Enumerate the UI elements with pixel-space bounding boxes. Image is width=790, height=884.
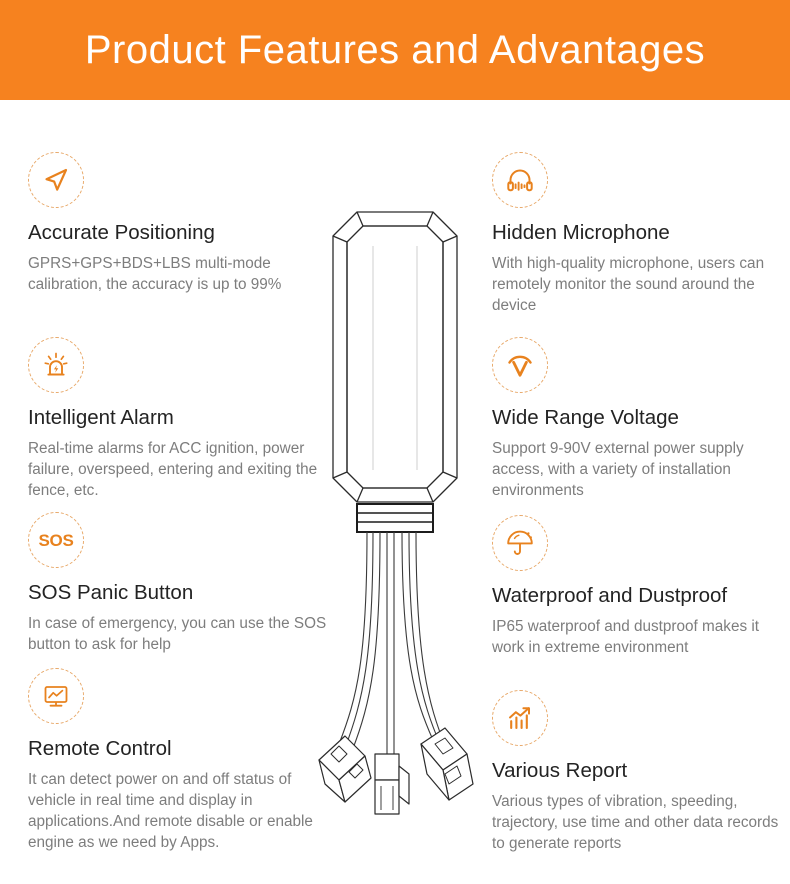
page-title: Product Features and Advantages — [85, 30, 705, 70]
sos-icon: SOS — [28, 512, 84, 568]
feature-various-report: Various Report Various types of vibratio… — [492, 690, 790, 854]
feature-wide-range-voltage: Wide Range Voltage Support 9-90V externa… — [492, 337, 790, 501]
feature-description: Various types of vibration, speeding, tr… — [492, 791, 784, 854]
feature-title: SOS Panic Button — [28, 581, 328, 606]
feature-waterproof-dustproof: Waterproof and Dustproof IP65 waterproof… — [492, 515, 790, 658]
feature-description: It can detect power on and off status of… — [28, 769, 328, 853]
sos-icon-label: SOS — [38, 532, 73, 549]
navigation-arrow-icon — [28, 152, 84, 208]
feature-description: With high-quality microphone, users can … — [492, 253, 784, 316]
feature-title: Various Report — [492, 759, 790, 784]
gps-tracker-device-illustration — [295, 188, 495, 858]
header-banner: Product Features and Advantages — [0, 0, 790, 100]
feature-description: Real-time alarms for ACC ignition, power… — [28, 438, 328, 501]
alarm-siren-icon — [28, 337, 84, 393]
voltage-v-icon — [492, 337, 548, 393]
feature-title: Accurate Positioning — [28, 221, 328, 246]
feature-hidden-microphone: Hidden Microphone With high-quality micr… — [492, 152, 790, 316]
feature-accurate-positioning: Accurate Positioning GPRS+GPS+BDS+LBS mu… — [28, 152, 328, 295]
feature-title: Intelligent Alarm — [28, 406, 328, 431]
headphone-microphone-icon — [492, 152, 548, 208]
feature-description: GPRS+GPS+BDS+LBS multi-mode calibration,… — [28, 253, 328, 295]
feature-description: IP65 waterproof and dustproof makes it w… — [492, 616, 784, 658]
bar-chart-trend-icon — [492, 690, 548, 746]
infographic-page: Product Features and Advantages Accurate… — [0, 0, 790, 884]
feature-sos-panic-button: SOS SOS Panic Button In case of emergenc… — [28, 512, 328, 655]
feature-title: Remote Control — [28, 737, 328, 762]
feature-description: Support 9-90V external power supply acce… — [492, 438, 784, 501]
umbrella-icon — [492, 515, 548, 571]
feature-title: Wide Range Voltage — [492, 406, 790, 431]
monitor-chart-icon — [28, 668, 84, 724]
feature-description: In case of emergency, you can use the SO… — [28, 613, 328, 655]
feature-title: Hidden Microphone — [492, 221, 790, 246]
feature-intelligent-alarm: Intelligent Alarm Real-time alarms for A… — [28, 337, 328, 501]
feature-remote-control: Remote Control It can detect power on an… — [28, 668, 328, 853]
feature-title: Waterproof and Dustproof — [492, 584, 790, 609]
